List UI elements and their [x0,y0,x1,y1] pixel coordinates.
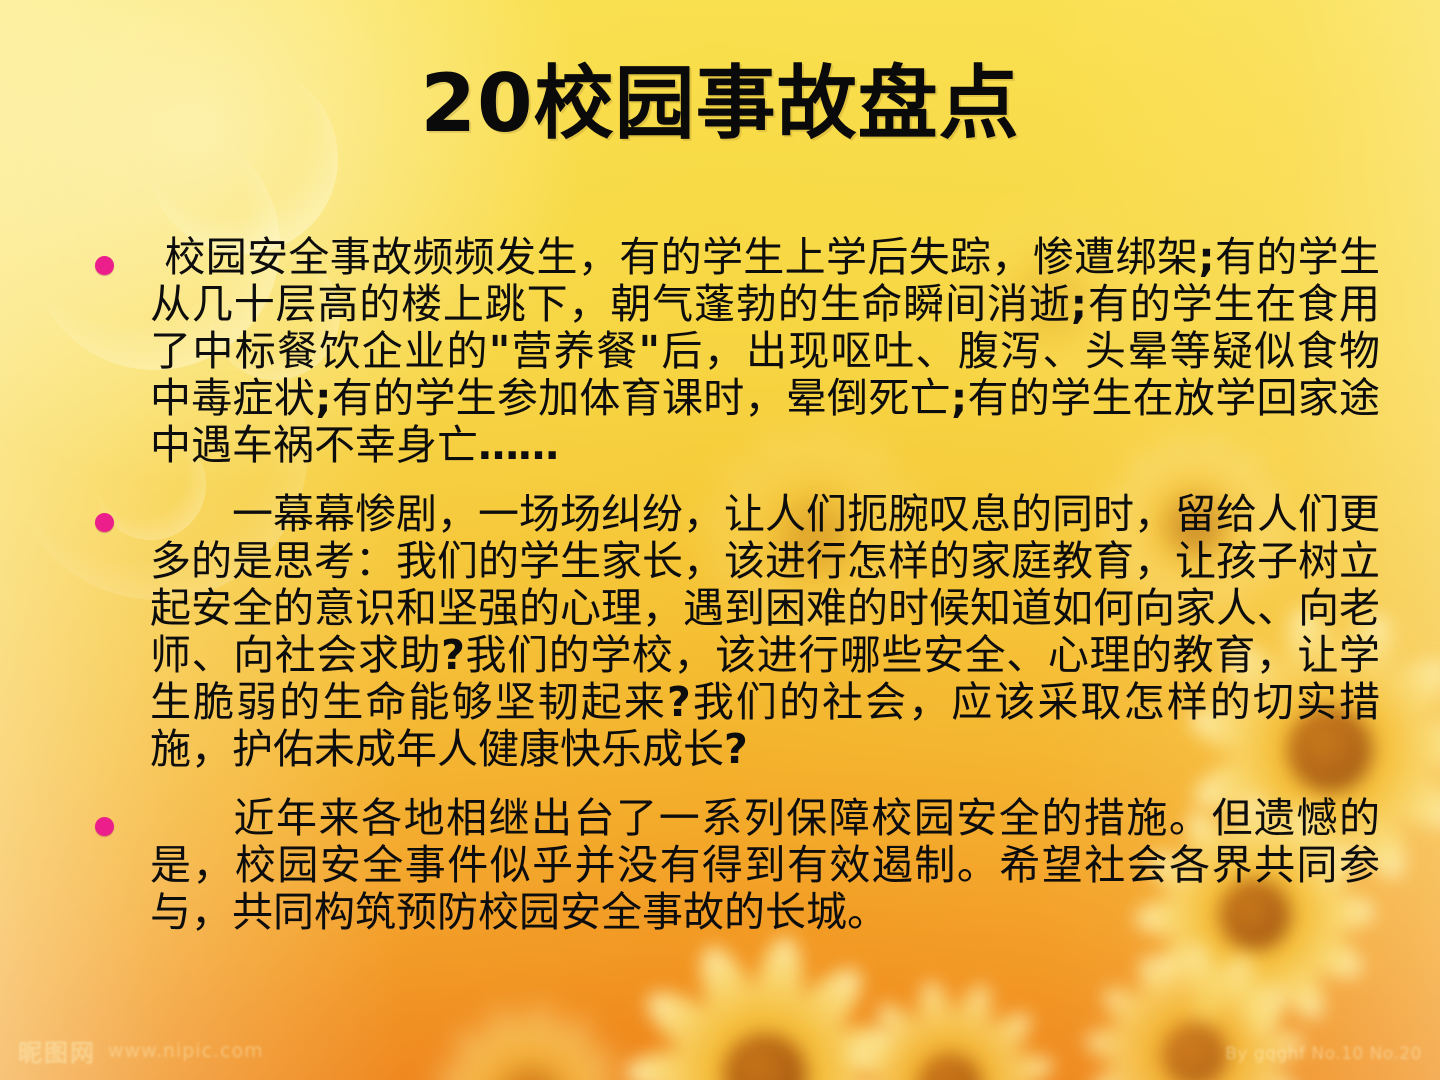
sunflower-petal [513,1003,559,1080]
sunflower-petal [912,978,969,1080]
sunflower-petal [687,938,788,1080]
sunflower-petal [858,1071,962,1080]
sunflower-petal [938,1002,1042,1080]
sunflower-petal [447,1023,541,1080]
sunflower-petal [1193,1023,1307,1074]
watermark-logo: 昵图网 [18,1033,96,1068]
sunflower-core [724,1034,805,1080]
sunflower-petal [747,955,877,1080]
sunflower-petal [516,1012,599,1080]
sunflower-core [1163,1023,1227,1080]
bullet-dot-icon [95,817,114,836]
bullet-paragraph-1: 校园安全事故频频发生，有的学生上学后失踪，惨遭绑架;有的学生从几十层高的楼上跳下… [0,234,1440,469]
sunflower-decoration [1080,940,1310,1080]
watermark-left: 昵图网 www.nipic.com [18,1033,264,1068]
sunflower-petal [741,1072,807,1080]
sunflower-petal [1106,1042,1209,1080]
sunflower-petal [481,1004,546,1080]
sunflower-decoration [430,1000,630,1080]
sunflower-petal [1094,975,1207,1071]
sunflower-petal [1180,1042,1282,1080]
paragraph-text-2: 一幕幕惨剧，一场场纠纷，让人们扼腕叹息的同时，留给人们更多的是思考：我们的学生家… [150,491,1380,773]
sunflower-petal [1127,948,1212,1064]
presentation-slide: 20校园事故盘点 校园安全事故频频发生，有的学生上学后失踪，惨遭绑架;有的学生从… [0,0,1440,1080]
sunflower-petal [1176,1051,1239,1080]
sunflower-petal [1184,977,1297,1071]
sunflower-petal [522,1041,623,1080]
bullet-dot-icon [95,256,114,275]
sunflower-petal [946,1047,1057,1080]
sunflower-petal [636,977,779,1080]
sunflower-petal [936,1073,1033,1080]
watermark-url: www.nipic.com [108,1040,264,1062]
watermark-right: By gqghf No.10 No.20 [1225,1044,1422,1064]
sunflower-core [919,1054,981,1080]
bullet-paragraph-3: 近年来各地相继出台了一系列保障校园安全的措施。但遗憾的是，校园安全事件似乎并没有… [0,795,1440,936]
sunflower-petal [746,1059,873,1080]
sunflower-petal [683,1064,788,1080]
sunflower-petal [759,1015,906,1080]
sunflower-petal [433,1060,534,1080]
sunflower-petal [1149,1050,1214,1080]
sunflower-petal [1175,944,1215,1055]
sunflower-petal [844,1033,956,1080]
sunflower-core [502,1072,558,1080]
sunflower-petal [634,1054,778,1080]
sunflower-petal [1178,949,1265,1065]
sunflower-petal [843,1067,954,1080]
slide-body-bullet-list: 校园安全事故频频发生，有的学生上学后失踪，惨遭绑架;有的学生从几十层高的楼上跳下… [0,234,1440,958]
sunflower-petal [1085,1037,1202,1080]
sunflower-petal [1083,1021,1198,1074]
sunflower-petal [944,1067,1056,1080]
sunflower-petal [625,1048,765,1080]
paragraph-text-1: 校园安全事故频频发生，有的学生上学后失踪，惨遭绑架;有的学生从几十层高的楼上跳下… [150,234,1380,469]
sunflower-petal [867,993,964,1080]
sunflower-petal [932,979,1002,1080]
slide-title: 20校园事故盘点 [0,62,1440,146]
bullet-paragraph-2: 一幕幕惨剧，一场场纠纷，让人们扼腕叹息的同时，留给人们更多的是思考：我们的学生家… [0,491,1440,773]
sunflower-decoration [840,975,1060,1080]
paragraph-text-3: 近年来各地相继出台了一系列保障校园安全的措施。但遗憾的是，校园安全事件似乎并没有… [150,795,1380,936]
bullet-dot-icon [95,513,114,532]
sunflower-petal [758,1051,906,1080]
sunflower-petal [1188,1037,1305,1080]
